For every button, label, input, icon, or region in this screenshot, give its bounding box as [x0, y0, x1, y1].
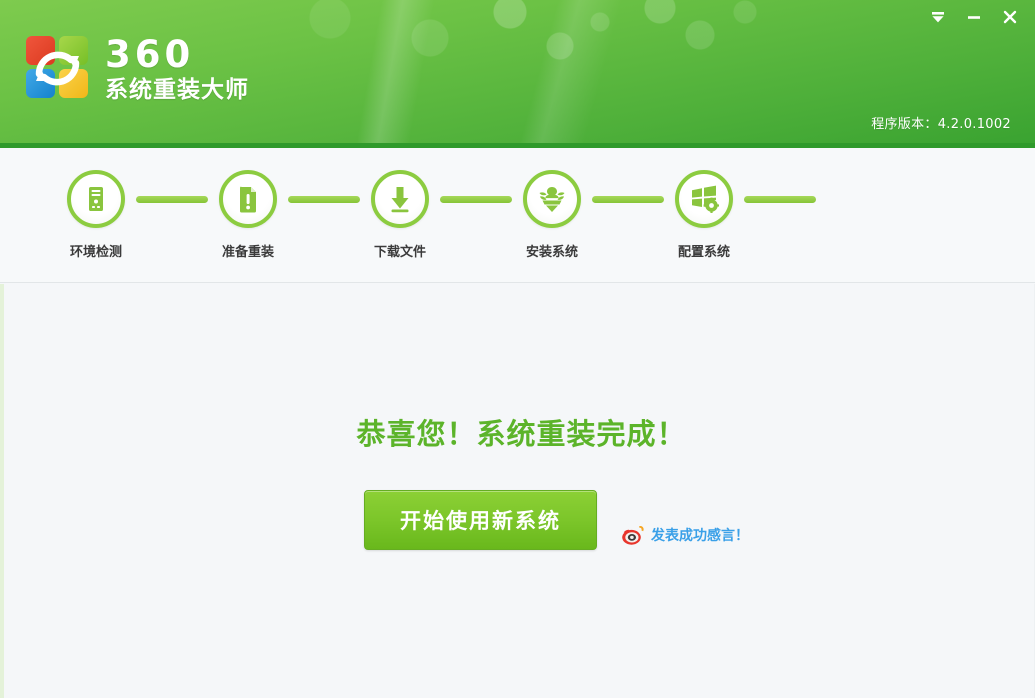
- install-package-icon: [537, 185, 567, 213]
- window-controls: [921, 4, 1027, 30]
- step-progress-bar: 环境检测 准备重装: [0, 148, 1035, 283]
- document-alert-icon: [236, 185, 260, 213]
- app-logo: 360 系统重装大师: [26, 36, 249, 104]
- step-environment-check[interactable]: 环境检测: [60, 170, 132, 260]
- download-arrow-icon: [387, 185, 413, 213]
- computer-tower-icon: [83, 185, 109, 213]
- close-icon: [1002, 9, 1018, 25]
- step-circle-3: [371, 170, 429, 228]
- title-bar: 360 系统重装大师 程序版本：4.2.0.1002: [0, 0, 1035, 148]
- weibo-share-link[interactable]: 发表成功感言！: [621, 525, 749, 546]
- step-connector-5: [744, 196, 816, 203]
- 360-reinstall-logo-icon: [26, 36, 89, 99]
- step-connector-4: [592, 196, 664, 203]
- step-label-5: 配置系统: [678, 241, 730, 260]
- step-circle-1: [67, 170, 125, 228]
- minimize-icon: [966, 10, 982, 24]
- step-circle-4: [523, 170, 581, 228]
- close-button[interactable]: [993, 4, 1027, 30]
- weibo-icon: [621, 525, 645, 546]
- logo-refresh-arrow-icon: [26, 36, 89, 99]
- step-label-1: 环境检测: [70, 241, 122, 260]
- chevron-down-bar-icon: [930, 10, 946, 24]
- step-install-system[interactable]: 安装系统: [516, 170, 588, 260]
- step-download-files[interactable]: 下载文件: [364, 170, 436, 260]
- steps-row: 环境检测 准备重装: [60, 170, 820, 260]
- step-connector-3: [440, 196, 512, 203]
- windows-gear-icon: [689, 185, 719, 213]
- weibo-link-label: 发表成功感言！: [651, 525, 749, 545]
- brand-title: 360: [105, 37, 249, 73]
- step-circle-2: [219, 170, 277, 228]
- version-label: 程序版本：4.2.0.1002: [871, 113, 1011, 132]
- step-prepare-reinstall[interactable]: 准备重装: [212, 170, 284, 260]
- step-connector-1: [136, 196, 208, 203]
- action-row: 开始使用新系统 发表成功感言！: [364, 490, 749, 550]
- app-window: 360 系统重装大师 程序版本：4.2.0.1002: [0, 0, 1035, 698]
- menu-collapse-button[interactable]: [921, 4, 955, 30]
- step-connector-2: [288, 196, 360, 203]
- step-label-3: 下载文件: [374, 241, 426, 260]
- step-configure-system[interactable]: 配置系统: [668, 170, 740, 260]
- step-label-4: 安装系统: [526, 241, 578, 260]
- minimize-button[interactable]: [957, 4, 991, 30]
- step-label-2: 准备重装: [222, 241, 274, 260]
- start-using-new-system-button[interactable]: 开始使用新系统: [364, 490, 597, 550]
- brand-text: 360 系统重装大师: [105, 36, 249, 104]
- content-area: 恭喜您！系统重装完成！ 开始使用新系统 发表成功感言！: [0, 284, 1035, 698]
- success-message: 恭喜您！系统重装完成！: [4, 411, 1035, 453]
- brand-subtitle: 系统重装大师: [105, 76, 249, 104]
- step-circle-5: [675, 170, 733, 228]
